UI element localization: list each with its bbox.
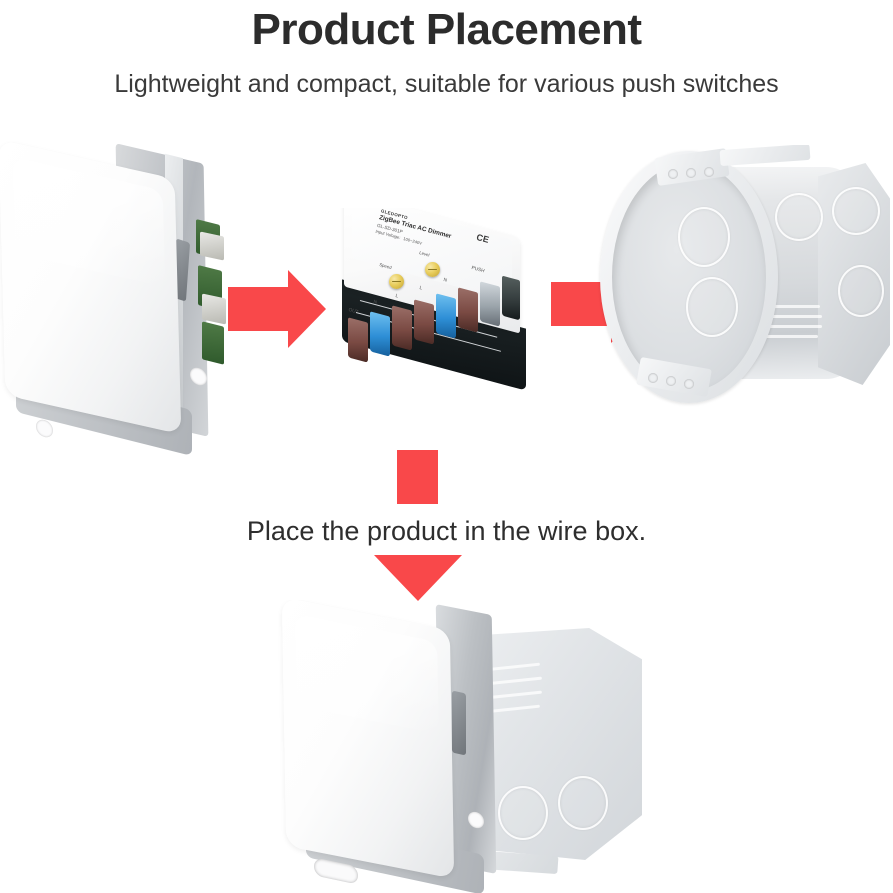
dimmer-connector-1 — [348, 317, 368, 362]
assembled-box-knockout-1 — [498, 786, 548, 840]
dimmer-connector-2 — [370, 311, 390, 356]
dimmer-connector-8 — [502, 276, 520, 321]
dimmer-connector-6 — [458, 287, 478, 332]
switch-terminal-mid — [202, 293, 226, 324]
dimmer-connector-3 — [392, 305, 412, 350]
zigbee-triac-ac-dimmer: GLEDOPTO ZigBee Triac AC Dimmer GL-SD-30… — [332, 208, 532, 394]
page-subtitle: Lightweight and compact, suitable for va… — [0, 68, 893, 100]
dimmer-connector-7 — [480, 281, 500, 326]
assembled-box-knockout-2 — [558, 776, 608, 830]
wall-box-inner-cavity — [612, 163, 766, 391]
wall-box-screw-hole-bottom-2 — [666, 376, 676, 386]
arrow-caption-to-result — [374, 555, 462, 601]
wall-box-knockout-body-2 — [832, 187, 880, 235]
wall-box-knockout-body-3 — [838, 265, 884, 317]
wall-box-rib-3 — [764, 325, 822, 328]
wall-box-screw-hole-top-3 — [704, 167, 714, 177]
wall-box-mounting-ear — [720, 145, 811, 166]
wall-box-rib-4 — [762, 335, 818, 338]
step-caption: Place the product in the wire box. — [0, 512, 893, 550]
assembled-switch-lever — [452, 691, 466, 756]
arrow-head — [288, 270, 326, 348]
wall-box-screw-hole-bottom-1 — [648, 373, 658, 383]
wall-box-rib-1 — [768, 305, 820, 308]
dimmer-connector-4 — [414, 299, 434, 344]
arrow-switch-to-dimmer — [228, 270, 326, 348]
wall-box-screw-hole-top-2 — [686, 168, 696, 178]
dimmer-terminal-row — [332, 208, 532, 394]
arrow-down-to-caption — [397, 450, 438, 504]
switch-terminal-top — [200, 231, 224, 260]
wall-box-knockout-inner-bottom — [686, 277, 738, 337]
switch-frame-hole-left — [36, 418, 53, 439]
switch-pcb-bottom — [202, 321, 224, 364]
arrow-shaft — [228, 287, 289, 331]
wall-box-rib-2 — [766, 315, 822, 318]
dimmer-connector-5 — [436, 293, 456, 338]
page-title: Product Placement — [0, 4, 893, 56]
push-switch — [0, 140, 250, 450]
infographic-page: Product Placement Lightweight and compac… — [0, 0, 893, 893]
round-wall-back-box — [580, 145, 893, 420]
wall-box-screw-hole-top-1 — [668, 169, 678, 179]
switch-installed-in-wall-box — [262, 600, 642, 893]
wall-box-screw-hole-bottom-3 — [684, 379, 694, 389]
wall-box-knockout-body-1 — [775, 193, 823, 241]
wall-box-knockout-inner-top — [678, 207, 730, 267]
